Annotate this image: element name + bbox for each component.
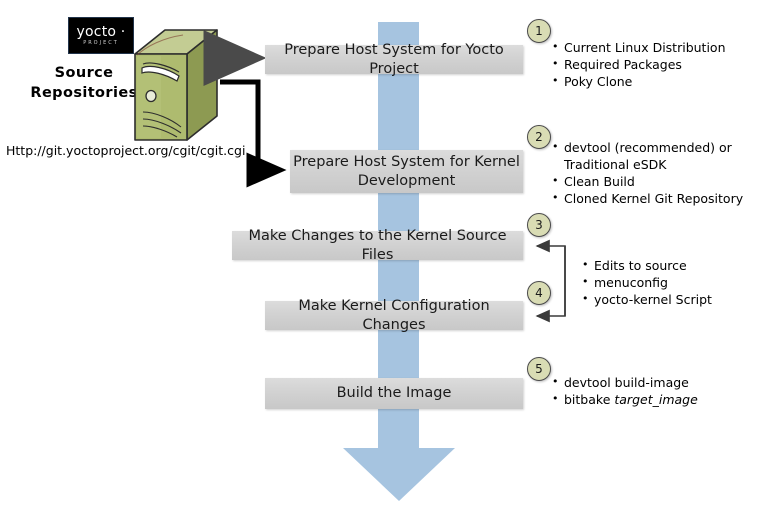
bitbake-command-prefix: bitbake [564,392,614,407]
list-item: yocto-kernel Script [582,291,712,308]
process-box-2-line2: Development [293,172,520,191]
yocto-project-logo: yocto · PROJECT [68,17,134,54]
step-badge-4: 4 [527,281,551,305]
source-repository-url: Http://git.yoctoproject.org/cgit/cgit.cg… [6,143,245,158]
step-2-bullets: devtool (recommended) or Traditional eSD… [552,139,743,207]
process-box-build-image[interactable]: Build the Image [265,378,523,409]
list-item-continuation: Traditional eSDK [552,156,743,173]
source-label-line1: Source [28,63,140,83]
step-1-bullets: Current Linux Distribution Required Pack… [552,39,726,90]
list-item: devtool (recommended) or [552,139,743,156]
bitbake-target-term: target_image [614,392,697,407]
list-item: Clean Build [552,173,743,190]
list-item: devtool build-image [552,374,698,391]
list-item: Cloned Kernel Git Repository [552,190,743,207]
process-box-2-line1: Prepare Host System for Kernel [293,153,520,172]
diagram-canvas: yocto · PROJECT Source Repositories Http… [0,0,769,517]
process-box-make-kernel-config-changes[interactable]: Make Kernel Configuration Changes [265,301,523,330]
step-badge-1: 1 [527,19,551,43]
process-box-make-kernel-source-changes[interactable]: Make Changes to the Kernel Source Files [232,231,523,260]
step-badge-5: 5 [527,357,551,381]
steps-3-4-bullets: Edits to source menuconfig yocto-kernel … [582,257,712,308]
flow-arrow-head [343,448,455,501]
list-item: Edits to source [582,257,712,274]
source-repositories-label: Source Repositories [28,63,140,103]
process-box-prepare-host-kernel[interactable]: Prepare Host System for Kernel Developme… [290,150,523,193]
step-5-bullets: devtool build-image bitbake target_image [552,374,698,408]
server-tower-icon [133,28,219,145]
list-item: menuconfig [582,274,712,291]
list-item: Required Packages [552,56,726,73]
process-box-prepare-host-yocto[interactable]: Prepare Host System for Yocto Project [265,45,523,74]
step-badge-3: 3 [527,213,551,237]
list-item: Current Linux Distribution [552,39,726,56]
list-item: Poky Clone [552,73,726,90]
source-label-line2: Repositories [28,83,140,103]
list-item: bitbake target_image [552,391,698,408]
step-badge-2: 2 [527,125,551,149]
logo-wordmark: yocto · [77,25,126,39]
logo-subtext: PROJECT [83,40,119,47]
